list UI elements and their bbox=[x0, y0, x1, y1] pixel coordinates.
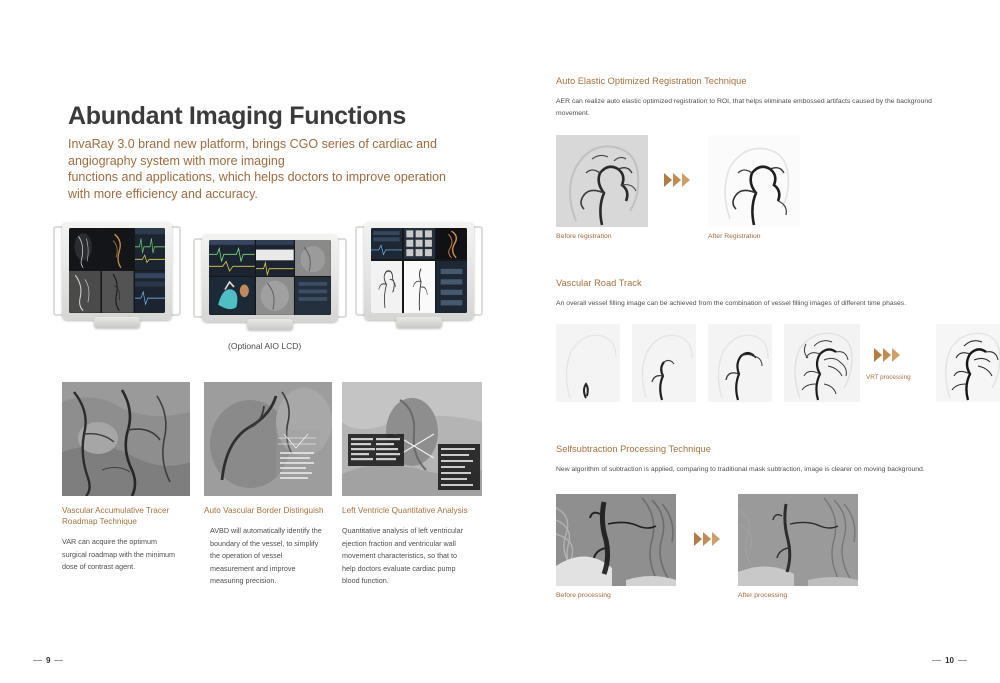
section-body: AER can realize auto elastic optimized r… bbox=[556, 96, 956, 119]
screen-pane-angio-2 bbox=[102, 271, 134, 313]
vrt-arrow-icon bbox=[874, 348, 900, 362]
footer-dash-left bbox=[33, 660, 42, 661]
section-body: An overall vessel filling image can be a… bbox=[556, 298, 956, 310]
label-vrt-processing: VRT processing bbox=[866, 374, 911, 381]
footer-left: 9 bbox=[33, 656, 63, 665]
feature-image-row bbox=[62, 382, 482, 497]
processing-arrow-icon bbox=[694, 532, 720, 546]
image-after-processing bbox=[738, 494, 858, 586]
chevron-right-icon bbox=[712, 532, 720, 546]
section-heading: Vascular Road Track bbox=[556, 278, 956, 288]
image-phase-2 bbox=[632, 324, 696, 402]
monitor-screen bbox=[209, 240, 331, 315]
chevron-right-icon bbox=[874, 348, 882, 362]
page-number: 10 bbox=[945, 656, 954, 665]
screen-pane-ecg bbox=[256, 240, 294, 276]
screen-pane-waveform bbox=[135, 228, 165, 270]
left-page: Abundant Imaging Functions InvaRay 3.0 b… bbox=[0, 0, 500, 683]
chevron-right-icon bbox=[673, 173, 681, 187]
chevron-right-icon bbox=[694, 532, 702, 546]
screen-pane-chest-1 bbox=[295, 240, 331, 276]
label-after-processing: After processing bbox=[738, 592, 787, 599]
monitor-left bbox=[62, 222, 172, 320]
feature-heading: Auto Vascular Border Distinguish bbox=[204, 505, 324, 516]
screen-pane-dsa-brain bbox=[371, 261, 402, 313]
feature-body: VAR can acquire the optimum surgical roa… bbox=[62, 536, 182, 574]
monitor-stand bbox=[247, 319, 293, 330]
monitor-screen bbox=[69, 228, 165, 313]
monitor-frame bbox=[202, 234, 338, 322]
chevron-right-icon bbox=[883, 348, 891, 362]
feature-image-left-ventricle bbox=[342, 382, 482, 496]
feature-heading: Left Ventricle Quantitative Analysis bbox=[342, 505, 472, 516]
chevron-right-icon bbox=[703, 532, 711, 546]
chevron-right-icon bbox=[682, 173, 690, 187]
section-vascular-road-track: Vascular Road Track An overall vessel fi… bbox=[556, 278, 956, 402]
registration-image-row: Before registration After Registration bbox=[556, 135, 956, 227]
registration-arrow-icon bbox=[664, 173, 690, 187]
feature-body: AVBD will automatically identify the bou… bbox=[204, 525, 324, 588]
screen-pane-chest-2 bbox=[256, 277, 294, 315]
screen-pane-angio-1 bbox=[69, 271, 101, 313]
feature-heading: Vascular Accumulative Tracer Roadmap Tec… bbox=[62, 505, 182, 527]
screen-pane-dsa-vessel bbox=[404, 261, 435, 313]
screen-pane-3d bbox=[102, 228, 134, 270]
image-before-registration bbox=[556, 135, 648, 227]
feature-body: Quantitative analysis of left ventricula… bbox=[342, 525, 472, 588]
section-body: New algorithm of subtraction is applied,… bbox=[556, 464, 956, 476]
label-before-processing: Before processing bbox=[556, 592, 611, 599]
page-title: Abundant Imaging Functions bbox=[68, 102, 406, 131]
screen-pane-toolbar bbox=[295, 277, 331, 315]
monitor-frame bbox=[62, 222, 172, 320]
brochure-spread: Abundant Imaging Functions InvaRay 3.0 b… bbox=[0, 0, 1000, 683]
screen-pane-fluoro bbox=[69, 228, 101, 270]
screen-pane-hemodynamics bbox=[209, 240, 255, 276]
label-after-registration: After Registration bbox=[708, 233, 761, 240]
page-number: 9 bbox=[46, 656, 50, 665]
monitor-center bbox=[202, 234, 338, 322]
monitor-cluster bbox=[62, 218, 482, 338]
footer-dash-right bbox=[958, 660, 967, 661]
screen-pane-3d-heart bbox=[209, 277, 255, 315]
section-heading: Auto Elastic Optimized Registration Tech… bbox=[556, 76, 956, 86]
footer-dash-left bbox=[932, 660, 941, 661]
monitor-stand bbox=[94, 317, 140, 328]
image-before-processing bbox=[556, 494, 676, 586]
image-phase-1 bbox=[556, 324, 620, 402]
image-phase-4-full-fill bbox=[784, 324, 860, 402]
section-heading: Selfsubtraction Processing Technique bbox=[556, 444, 956, 454]
screen-pane-sidebar bbox=[436, 261, 467, 313]
image-after-registration bbox=[708, 135, 800, 227]
screen-pane-params bbox=[371, 228, 402, 259]
image-vrt-result bbox=[936, 324, 1000, 402]
monitor-right bbox=[364, 222, 474, 320]
label-before-registration: Before registration bbox=[556, 233, 612, 240]
road-track-image-row: VRT processing bbox=[556, 324, 956, 402]
screen-pane-3d-vessel bbox=[436, 228, 467, 259]
footer-dash-right bbox=[54, 660, 63, 661]
monitor-screen bbox=[371, 228, 467, 313]
feature-caption-vascular-roadmap: Vascular Accumulative Tracer Roadmap Tec… bbox=[62, 505, 182, 574]
screen-pane-thumbgrid bbox=[404, 228, 435, 259]
feature-caption-vascular-border: Auto Vascular Border Distinguish AVBD wi… bbox=[204, 505, 324, 588]
monitor-frame bbox=[364, 222, 474, 320]
selfsubtraction-image-row: Before processing After processing bbox=[556, 494, 956, 586]
feature-image-vascular-border bbox=[204, 382, 332, 496]
chevron-right-icon bbox=[664, 173, 672, 187]
monitor-stand bbox=[396, 317, 442, 328]
right-page: Auto Elastic Optimized Registration Tech… bbox=[500, 0, 1000, 683]
monitor-caption: (Optional AIO LCD) bbox=[228, 341, 301, 351]
feature-image-vascular-roadmap bbox=[62, 382, 190, 496]
section-auto-elastic-registration: Auto Elastic Optimized Registration Tech… bbox=[556, 76, 956, 227]
screen-pane-controls bbox=[135, 271, 165, 313]
image-phase-3 bbox=[708, 324, 772, 402]
chevron-right-icon bbox=[892, 348, 900, 362]
footer-right: 10 bbox=[932, 656, 967, 665]
feature-caption-left-ventricle: Left Ventricle Quantitative Analysis Qua… bbox=[342, 505, 472, 588]
page-subtitle: InvaRay 3.0 brand new platform, brings C… bbox=[68, 136, 448, 202]
section-selfsubtraction: Selfsubtraction Processing Technique New… bbox=[556, 444, 956, 586]
